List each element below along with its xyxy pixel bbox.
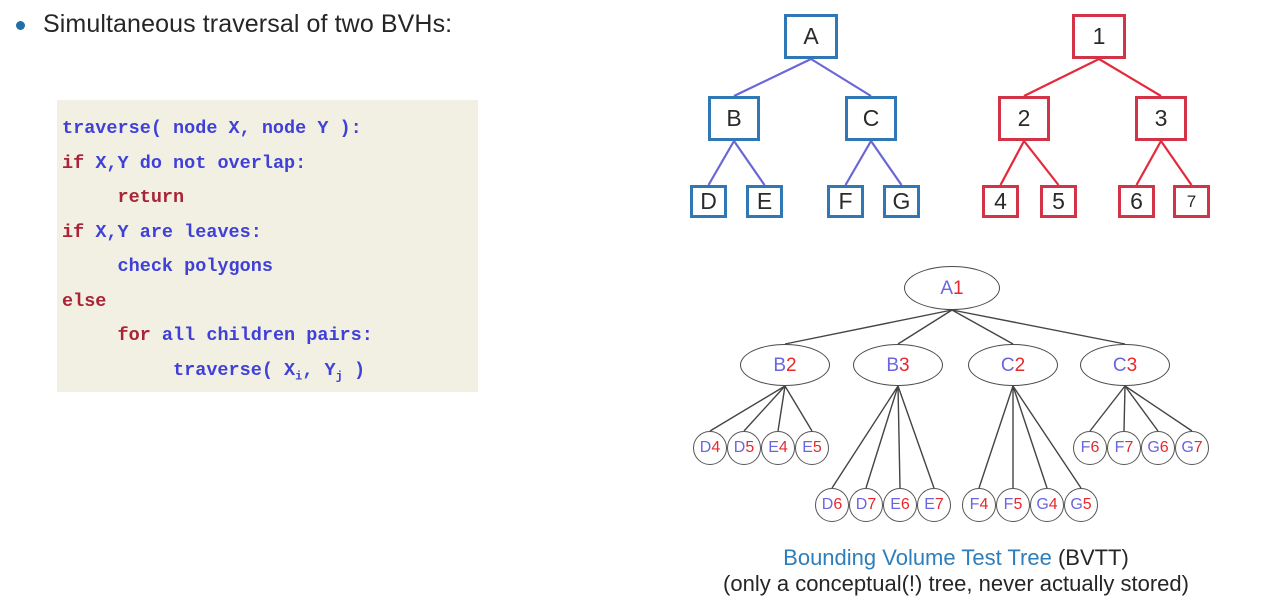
bvtt-label-letter: G	[1147, 440, 1159, 456]
bvtt-leaf-E6: E6	[883, 488, 917, 522]
bvh-node-label: 2	[1018, 107, 1031, 130]
bvh-node-E: E	[746, 185, 783, 218]
bvtt-edge	[898, 386, 934, 488]
slide-canvas: Simultaneous traversal of two BVHs: trav…	[0, 0, 1276, 600]
bvh-node-label: C	[863, 107, 880, 130]
bvh-node-F: F	[827, 185, 864, 218]
bvh-node-label: 3	[1155, 107, 1168, 130]
bvtt-label-number: 2	[1015, 356, 1026, 375]
bvh-node-A: A	[784, 14, 838, 59]
bvtt-node-B3: B3	[853, 344, 943, 386]
bvh-node-label: G	[893, 190, 911, 213]
bvtt-label-number: 4	[1049, 497, 1058, 513]
caption-title-abbr: (BVTT)	[1052, 545, 1129, 570]
bvtt-leaf-D5: D5	[727, 431, 761, 465]
tree-edge	[1024, 141, 1059, 185]
bvtt-leaf-D7: D7	[849, 488, 883, 522]
bvtt-label-number: 5	[813, 440, 822, 456]
bvtt-edge	[1090, 386, 1125, 431]
bvtt-label-number: 7	[1124, 440, 1133, 456]
bvh-node-2: 2	[998, 96, 1050, 141]
bvtt-edge	[710, 386, 785, 431]
tree-edge	[1161, 141, 1192, 185]
bvh-node-label: 7	[1187, 193, 1196, 210]
bvtt-edge	[785, 386, 812, 431]
bvtt-label-number: 6	[901, 497, 910, 513]
tree-edge	[1024, 59, 1099, 96]
bvh-node-C: C	[845, 96, 897, 141]
bvtt-label-number: 3	[1127, 356, 1138, 375]
bvtt-label-number: 4	[779, 440, 788, 456]
bvtt-leaf-G5: G5	[1064, 488, 1098, 522]
bvtt-label-number: 4	[711, 440, 720, 456]
bvtt-edge	[952, 310, 1125, 344]
bvtt-label-number: 1	[953, 279, 964, 298]
bvtt-label-number: 5	[1083, 497, 1092, 513]
bvtt-node-B2: B2	[740, 344, 830, 386]
bvtt-leaf-G6: G6	[1141, 431, 1175, 465]
bvtt-edge	[1124, 386, 1125, 431]
bvtt-label-number: 6	[1090, 440, 1099, 456]
bvtt-label-letter: F	[1115, 440, 1125, 456]
bvtt-node-C3: C3	[1080, 344, 1170, 386]
bvh-node-D: D	[690, 185, 727, 218]
bvtt-edge	[785, 310, 952, 344]
bvh-node-1: 1	[1072, 14, 1126, 59]
bvh-node-4: 4	[982, 185, 1019, 218]
bvh-node-label: B	[726, 107, 741, 130]
bvtt-leaf-F7: F7	[1107, 431, 1141, 465]
bvtt-label-letter: E	[802, 440, 813, 456]
bvtt-caption: Bounding Volume Test Tree (BVTT) (only a…	[636, 545, 1276, 597]
bvtt-edge	[1013, 386, 1081, 488]
bvtt-edge	[1013, 386, 1047, 488]
bvh-node-3: 3	[1135, 96, 1187, 141]
bvtt-leaf-E5: E5	[795, 431, 829, 465]
bvtt-leaf-D4: D4	[693, 431, 727, 465]
bvtt-edge	[1125, 386, 1158, 431]
bvtt-label-letter: G	[1181, 440, 1193, 456]
tree-edge	[1137, 141, 1162, 185]
bvtt-label-number: 7	[935, 497, 944, 513]
bvh-node-label: A	[803, 25, 818, 48]
bvtt-edge	[1125, 386, 1192, 431]
tree-edge	[709, 141, 735, 185]
bvtt-label-letter: G	[1070, 497, 1082, 513]
bvtt-label-number: 3	[899, 356, 910, 375]
bvtt-edge	[952, 310, 1013, 344]
bvtt-leaf-F6: F6	[1073, 431, 1107, 465]
bvtt-label-letter: F	[1081, 440, 1091, 456]
tree-edge	[846, 141, 872, 185]
bvtt-label-letter: A	[940, 279, 953, 298]
bvtt-edge	[979, 386, 1013, 488]
bvh-node-label: 1	[1093, 25, 1106, 48]
bvh-node-7: 7	[1173, 185, 1210, 218]
bvtt-leaf-F5: F5	[996, 488, 1030, 522]
bvtt-edge	[832, 386, 898, 488]
bvtt-label-letter: B	[886, 356, 899, 375]
bvh-node-B: B	[708, 96, 760, 141]
tree-edge	[734, 141, 765, 185]
bvh-node-6: 6	[1118, 185, 1155, 218]
bvtt-label-letter: D	[822, 497, 834, 513]
bvh-node-label: 6	[1130, 190, 1143, 213]
bvtt-label-number: 6	[833, 497, 842, 513]
bvh-node-label: E	[757, 190, 772, 213]
caption-line-1: Bounding Volume Test Tree (BVTT)	[636, 545, 1276, 571]
bvtt-label-number: 7	[1194, 440, 1203, 456]
bvtt-label-letter: C	[1113, 356, 1127, 375]
bvtt-label-number: 5	[1013, 497, 1022, 513]
bvh-node-label: 5	[1052, 190, 1065, 213]
bvh-node-label: 4	[994, 190, 1007, 213]
bvh-node-label: D	[700, 190, 717, 213]
bvtt-leaf-D6: D6	[815, 488, 849, 522]
bvtt-label-letter: D	[734, 440, 746, 456]
bvtt-leaf-G4: G4	[1030, 488, 1064, 522]
bvh-node-5: 5	[1040, 185, 1077, 218]
tree-edge	[811, 59, 871, 96]
caption-line-2: (only a conceptual(!) tree, never actual…	[636, 571, 1276, 597]
bvtt-edge	[898, 386, 900, 488]
bvtt-leaf-E4: E4	[761, 431, 795, 465]
bvtt-label-letter: C	[1001, 356, 1015, 375]
bvtt-node-A1: A1	[904, 266, 1000, 310]
bvtt-label-letter: D	[856, 497, 868, 513]
tree-edge	[1001, 141, 1025, 185]
bvtt-label-letter: F	[970, 497, 980, 513]
bvtt-node-C2: C2	[968, 344, 1058, 386]
bvtt-label-number: 4	[979, 497, 988, 513]
bvh-node-label: F	[838, 190, 852, 213]
bvtt-label-letter: E	[768, 440, 779, 456]
bvtt-leaf-E7: E7	[917, 488, 951, 522]
bvtt-label-letter: E	[924, 497, 935, 513]
bvtt-label-letter: D	[700, 440, 712, 456]
bvtt-label-letter: E	[890, 497, 901, 513]
bvtt-edge	[866, 386, 898, 488]
bvtt-label-number: 7	[867, 497, 876, 513]
bvtt-label-number: 2	[786, 356, 797, 375]
bvtt-leaf-G7: G7	[1175, 431, 1209, 465]
tree-edge	[734, 59, 811, 96]
bvh-node-G: G	[883, 185, 920, 218]
bvtt-label-letter: B	[773, 356, 786, 375]
bvtt-leaf-F4: F4	[962, 488, 996, 522]
bvtt-label-letter: G	[1036, 497, 1048, 513]
bvtt-label-number: 5	[745, 440, 754, 456]
bvtt-label-number: 6	[1160, 440, 1169, 456]
bvtt-label-letter: F	[1004, 497, 1014, 513]
tree-edge	[871, 141, 902, 185]
caption-title-blue: Bounding Volume Test Tree	[783, 545, 1052, 570]
tree-edge	[1099, 59, 1161, 96]
